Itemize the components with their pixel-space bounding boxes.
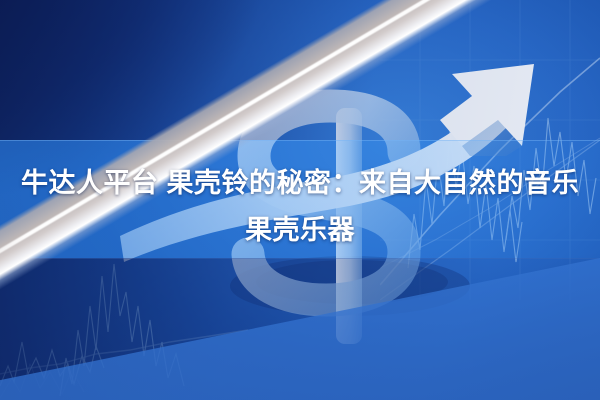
headline-text: 牛达人平台 果壳铃的秘密：来自大自然的音乐果壳乐器 — [0, 160, 600, 254]
banner-image: 牛达人平台 果壳铃的秘密：来自大自然的音乐果壳乐器 — [0, 0, 600, 400]
